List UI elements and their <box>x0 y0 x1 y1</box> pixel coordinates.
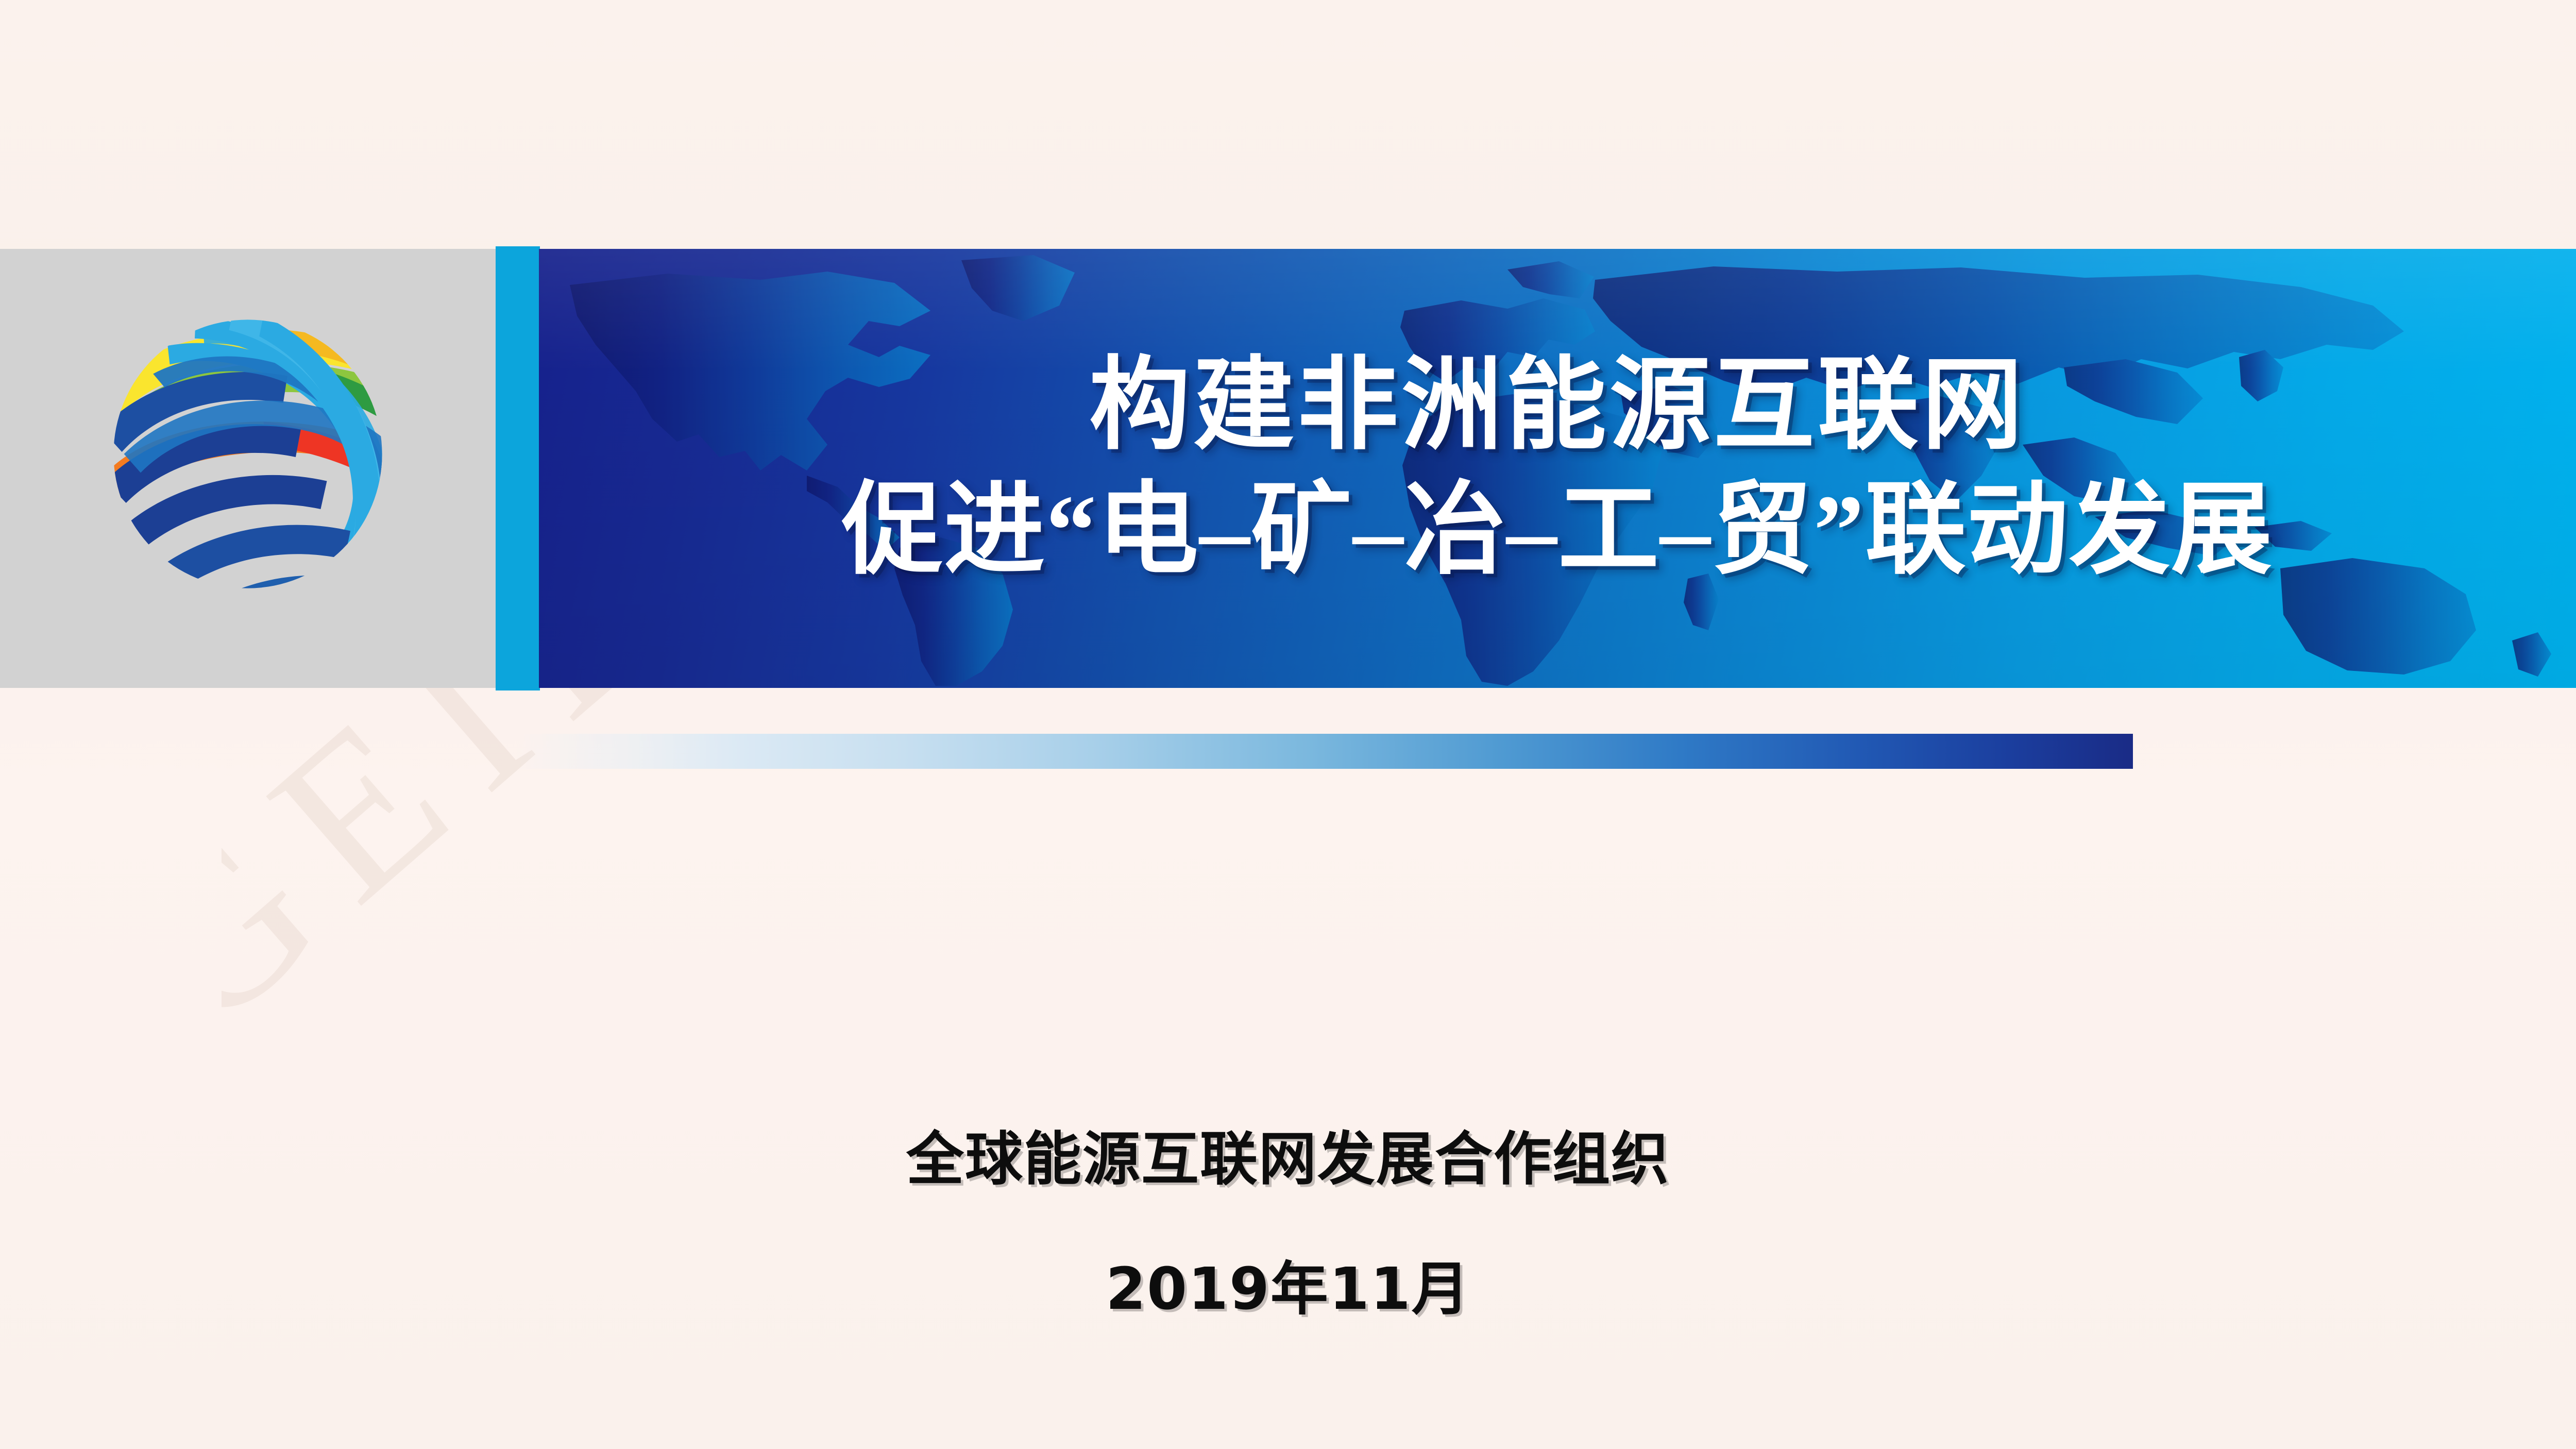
slide-footer: 全球能源互联网发展合作组织 2019年11月 <box>0 1123 2576 1325</box>
slide-title-block: 构建非洲能源互联网 促进“电–矿–冶–工–贸”联动发展 <box>539 249 2576 688</box>
presentation-date: 2019年11月 <box>0 1253 2576 1325</box>
cyan-accent-stripe <box>496 246 540 690</box>
organization-name: 全球能源互联网发展合作组织 <box>0 1123 2576 1195</box>
geidco-globe-logo-icon <box>92 298 404 610</box>
gradient-divider-bar <box>515 734 2133 769</box>
title-line-2: 促进“电–矿–冶–工–贸”联动发展 <box>842 474 2273 587</box>
title-line-1: 构建非洲能源互联网 <box>1089 349 2026 463</box>
presentation-slide: GEIDCO <box>0 0 2576 1449</box>
